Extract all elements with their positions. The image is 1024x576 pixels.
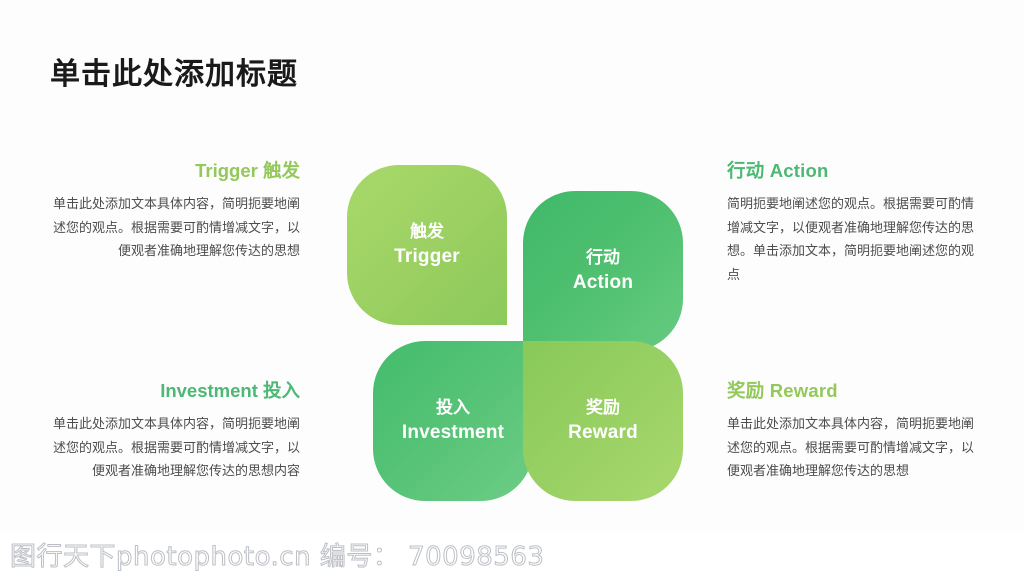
block-heading-trigger: Trigger 触发 <box>48 159 300 183</box>
petal-investment[interactable]: 投入 Investment <box>373 341 533 501</box>
block-heading-reward: 奖励 Reward <box>727 379 979 403</box>
block-heading-action: 行动 Action <box>727 159 979 183</box>
petal-trigger-label-cn: 触发 <box>394 220 460 243</box>
petal-reward-label-cn: 奖励 <box>568 396 638 419</box>
petal-reward-label: 奖励 Reward <box>568 396 638 446</box>
watermark-text: 图行天下photophoto.cn 编号： 70098563 <box>0 536 544 573</box>
petal-investment-label: 投入 Investment <box>402 396 504 446</box>
block-body-investment: 单击此处添加文本具体内容，简明扼要地阐述您的观点。根据需要可酌情增减文字，以便观… <box>48 412 300 483</box>
petal-investment-label-en: Investment <box>402 420 504 446</box>
block-body-action: 简明扼要地阐述您的观点。根据需要可酌情增减文字，以便观者准确地理解您传达的思想。… <box>727 192 979 287</box>
text-block-action[interactable]: 行动 Action 简明扼要地阐述您的观点。根据需要可酌情增减文字，以便观者准确… <box>727 159 979 287</box>
block-body-reward: 单击此处添加文本具体内容，简明扼要地阐述您的观点。根据需要可酌情增减文字，以便观… <box>727 412 979 483</box>
page-title[interactable]: 单击此处添加标题 <box>50 57 298 93</box>
petal-trigger-label-en: Trigger <box>394 244 460 270</box>
petal-reward-label-en: Reward <box>568 420 638 446</box>
petal-action[interactable]: 行动 Action <box>523 191 683 351</box>
petal-action-label-en: Action <box>573 270 633 296</box>
petal-trigger-label: 触发 Trigger <box>394 220 460 270</box>
text-block-reward[interactable]: 奖励 Reward 单击此处添加文本具体内容，简明扼要地阐述您的观点。根据需要可… <box>727 379 979 483</box>
footer-watermark-bar: 图行天下photophoto.cn 编号： 70098563 <box>0 532 1024 576</box>
block-body-trigger: 单击此处添加文本具体内容，简明扼要地阐述您的观点。根据需要可酌情增减文字，以便观… <box>48 192 300 263</box>
petal-trigger[interactable]: 触发 Trigger <box>347 165 507 325</box>
petal-action-label-cn: 行动 <box>573 246 633 269</box>
petal-investment-label-cn: 投入 <box>402 396 504 419</box>
petal-reward[interactable]: 奖励 Reward <box>523 341 683 501</box>
text-block-trigger[interactable]: Trigger 触发 单击此处添加文本具体内容，简明扼要地阐述您的观点。根据需要… <box>48 159 300 263</box>
block-heading-investment: Investment 投入 <box>48 379 300 403</box>
petal-action-label: 行动 Action <box>573 246 633 296</box>
text-block-investment[interactable]: Investment 投入 单击此处添加文本具体内容，简明扼要地阐述您的观点。根… <box>48 379 300 483</box>
slide-canvas: 单击此处添加标题 Trigger 触发 单击此处添加文本具体内容，简明扼要地阐述… <box>0 0 1024 576</box>
four-petal-diagram: 触发 Trigger 行动 Action 投入 Investment 奖励 Re… <box>347 165 683 501</box>
